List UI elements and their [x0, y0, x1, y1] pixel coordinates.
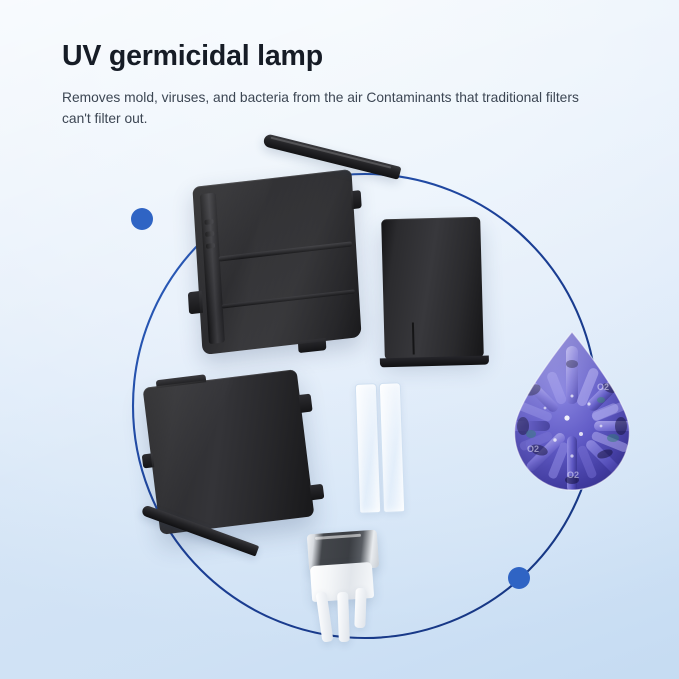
glass-tube-right	[379, 382, 406, 513]
block-right	[381, 217, 484, 360]
product-feature-banner: O2 O2 O2 UV germicidal lamp Removes mold…	[0, 0, 679, 679]
uv-lamp-pin	[337, 592, 350, 642]
glass-tubes	[355, 382, 406, 514]
accent-dot-lower-right	[508, 567, 530, 589]
housing-sheen	[192, 169, 361, 355]
uv-lamp-pin	[354, 588, 366, 628]
page-description: Removes mold, viruses, and bacteria from…	[62, 88, 582, 130]
glass-tube-left	[355, 383, 382, 514]
uv-lamp-cap-highlight	[315, 534, 361, 540]
page-title: UV germicidal lamp	[62, 40, 622, 74]
copy-block: UV germicidal lamp Removes mold, viruses…	[62, 40, 622, 130]
panel-lower-left	[143, 369, 315, 535]
accent-dot-upper-left	[131, 208, 153, 230]
block-seam	[412, 322, 415, 354]
germ-teardrop: O2 O2 O2	[509, 330, 635, 494]
uv-lamp-assembly	[299, 532, 383, 644]
housing-top-plate	[192, 169, 361, 355]
panel-sheen	[143, 369, 315, 535]
